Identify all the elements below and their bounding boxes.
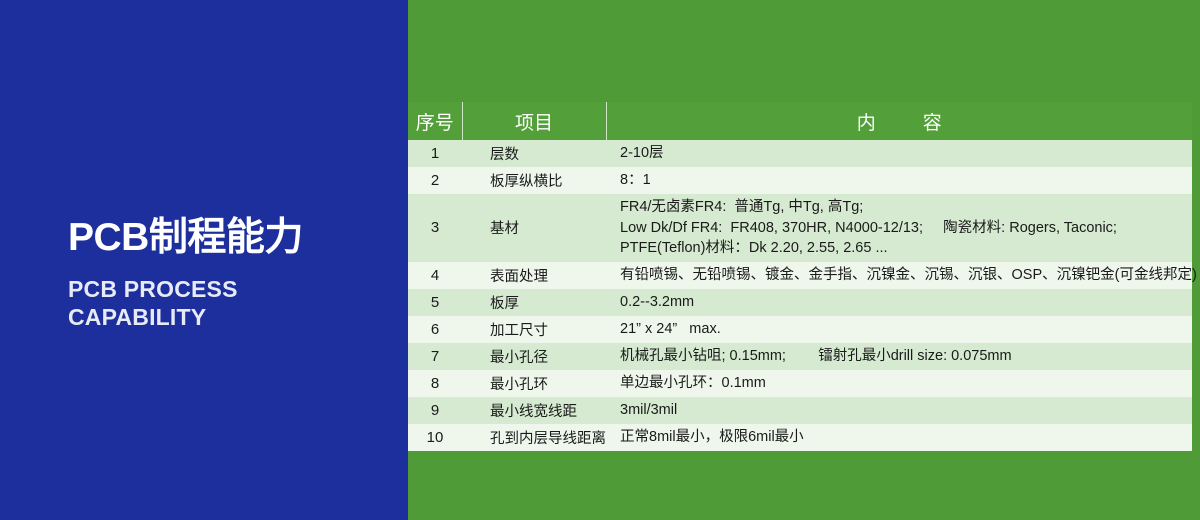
cell-row-number: 4 [408,262,462,289]
table-header: 序号 项目 内 容 [408,102,1192,140]
table-row: 1层数2-10层 [408,140,1192,167]
cell-content-line: 2-10层 [620,143,1186,164]
cell-content-line: 3mil/3mil [620,400,1186,421]
cell-row-number: 3 [408,194,462,262]
column-header-item: 项目 [462,102,606,140]
cell-row-number: 2 [408,167,462,194]
cell-item-name: 最小孔径 [462,343,606,370]
page-title: PCB制程能力 [68,218,398,259]
cell-content: 机械孔最小钻咀; 0.15mm; 镭射孔最小drill size: 0.075m… [606,343,1192,370]
table-row: 3基材FR4/无卤素FR4: 普通Tg, 中Tg, 高Tg;Low Dk/Df … [408,194,1192,262]
column-header-no: 序号 [408,102,462,140]
cell-content-line: 单边最小孔环：0.1mm [620,373,1186,394]
cell-content-line: FR4/无卤素FR4: 普通Tg, 中Tg, 高Tg; [620,197,1186,218]
cell-content-line: PTFE(Teflon)材料：Dk 2.20, 2.55, 2.65 ... [620,238,1186,259]
cell-content: FR4/无卤素FR4: 普通Tg, 中Tg, 高Tg;Low Dk/Df FR4… [606,194,1192,262]
cell-content: 8：1 [606,167,1192,194]
table-row: 5板厚0.2--3.2mm [408,289,1192,316]
cell-row-number: 9 [408,397,462,424]
cell-item-name: 最小线宽线距 [462,397,606,424]
slide-canvas: PCB制程能力 PCB PROCESS CAPABILITY 序号 项目 内 容… [0,0,1200,520]
table-row: 8最小孔环单边最小孔环：0.1mm [408,370,1192,397]
brand-block: PCB制程能力 PCB PROCESS CAPABILITY [68,218,398,331]
table-row: 9最小线宽线距3mil/3mil [408,397,1192,424]
cell-content-line: 8：1 [620,170,1186,191]
cell-content: 0.2--3.2mm [606,289,1192,316]
cell-item-name: 基材 [462,194,606,262]
cell-row-number: 8 [408,370,462,397]
cell-content: 单边最小孔环：0.1mm [606,370,1192,397]
cell-row-number: 10 [408,424,462,451]
page-subtitle-line1: PCB PROCESS [68,275,398,303]
column-header-content: 内 容 [606,102,1192,140]
page-subtitle: PCB PROCESS CAPABILITY [68,275,398,331]
table-header-row: 序号 项目 内 容 [408,102,1192,140]
cell-content-line: 机械孔最小钻咀; 0.15mm; 镭射孔最小drill size: 0.075m… [620,346,1186,367]
page-subtitle-line2: CAPABILITY [68,303,398,331]
cell-row-number: 1 [408,140,462,167]
table-row: 10孔到内层导线距离正常8mil最小，极限6mil最小 [408,424,1192,451]
cell-content: 2-10层 [606,140,1192,167]
cell-content-line: 有铅喷锡、无铅喷锡、镀金、金手指、沉镍金、沉锡、沉银、OSP、沉镍钯金(可金线邦… [620,265,1186,286]
table-row: 4表面处理有铅喷锡、无铅喷锡、镀金、金手指、沉镍金、沉锡、沉银、OSP、沉镍钯金… [408,262,1192,289]
table-row: 6加工尺寸21” x 24” max. [408,316,1192,343]
left-brand-panel: PCB制程能力 PCB PROCESS CAPABILITY [0,0,408,520]
cell-content: 正常8mil最小，极限6mil最小 [606,424,1192,451]
cell-item-name: 表面处理 [462,262,606,289]
cell-row-number: 6 [408,316,462,343]
cell-item-name: 加工尺寸 [462,316,606,343]
cell-content-line: Low Dk/Df FR4: FR408, 370HR, N4000-12/13… [620,218,1186,239]
cell-content: 3mil/3mil [606,397,1192,424]
capability-table: 序号 项目 内 容 1层数2-10层2板厚纵横比8：13基材FR4/无卤素FR4… [408,102,1192,451]
table-body: 1层数2-10层2板厚纵横比8：13基材FR4/无卤素FR4: 普通Tg, 中T… [408,140,1192,451]
cell-content-line: 正常8mil最小，极限6mil最小 [620,427,1186,448]
cell-content: 21” x 24” max. [606,316,1192,343]
cell-item-name: 层数 [462,140,606,167]
cell-item-name: 板厚纵横比 [462,167,606,194]
cell-content: 有铅喷锡、无铅喷锡、镀金、金手指、沉镍金、沉锡、沉银、OSP、沉镍钯金(可金线邦… [606,262,1192,289]
cell-content-line: 0.2--3.2mm [620,292,1186,313]
table-row: 2板厚纵横比8：1 [408,167,1192,194]
cell-item-name: 孔到内层导线距离 [462,424,606,451]
cell-item-name: 最小孔环 [462,370,606,397]
cell-item-name: 板厚 [462,289,606,316]
column-header-content-label: 内 容 [843,113,956,134]
cell-row-number: 5 [408,289,462,316]
cell-content-line: 21” x 24” max. [620,319,1186,340]
table-row: 7最小孔径机械孔最小钻咀; 0.15mm; 镭射孔最小drill size: 0… [408,343,1192,370]
cell-row-number: 7 [408,343,462,370]
